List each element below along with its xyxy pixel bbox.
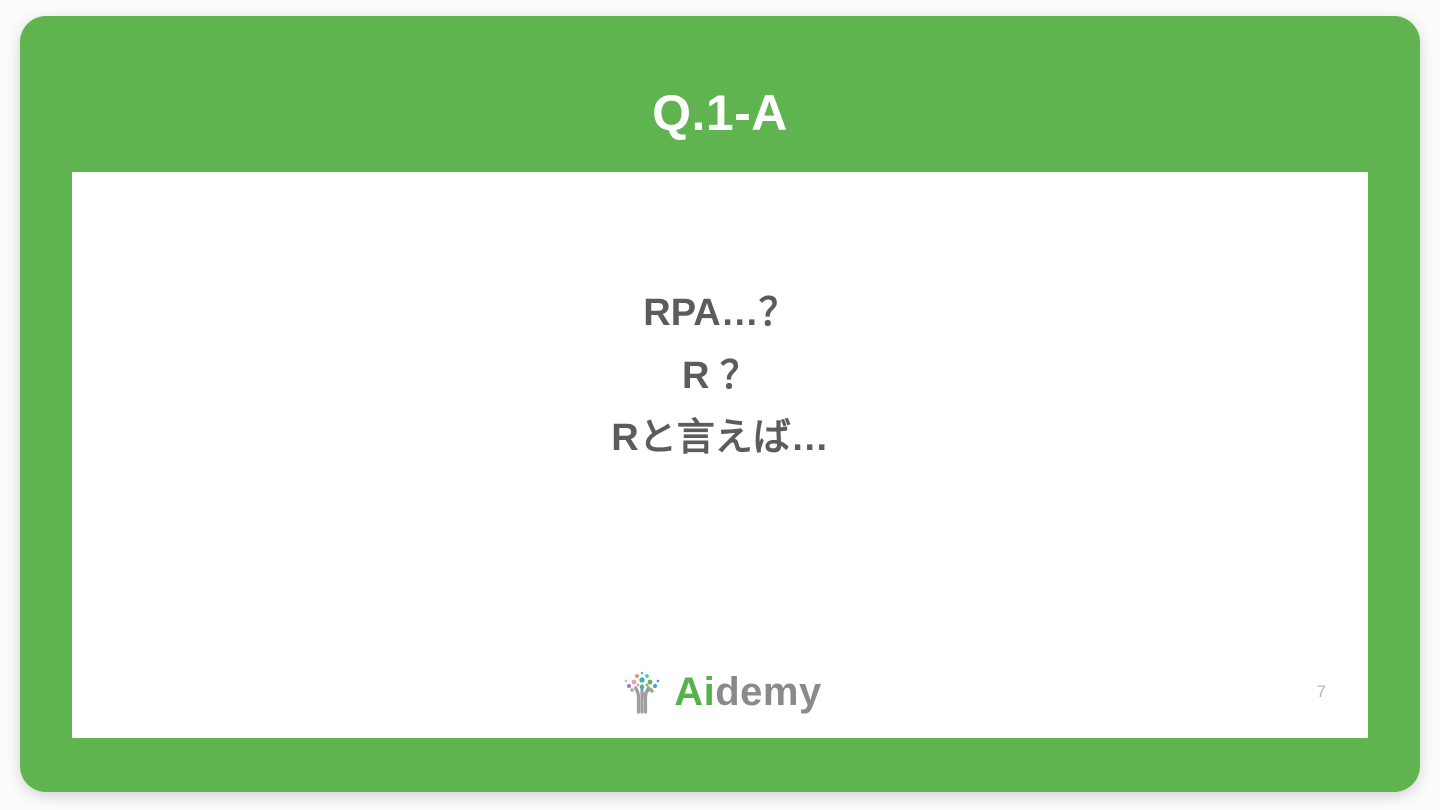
slide-root: Q.1-A RPA…？ R ？ Rと言えば…: [0, 0, 1440, 810]
aidemy-wordmark-primary: Ai: [674, 670, 715, 714]
body-text-block: RPA…？ R ？ Rと言えば…: [72, 282, 1368, 470]
body-line-2: R ？: [72, 345, 1368, 408]
aidemy-wordmark-secondary: demy: [715, 670, 822, 714]
page-title: Q.1-A: [20, 86, 1420, 141]
body-line-1: RPA…？: [72, 282, 1368, 345]
content-panel: RPA…？ R ？ Rと言えば…: [72, 172, 1368, 738]
aidemy-logo: Aidemy: [72, 668, 1368, 716]
aidemy-wordmark: Aidemy: [674, 672, 822, 712]
body-line-3: Rと言えば…: [72, 407, 1368, 470]
aidemy-tree-icon: [618, 668, 666, 716]
page-number: 7: [1317, 682, 1326, 702]
slide-card: Q.1-A RPA…？ R ？ Rと言えば…: [20, 16, 1420, 792]
